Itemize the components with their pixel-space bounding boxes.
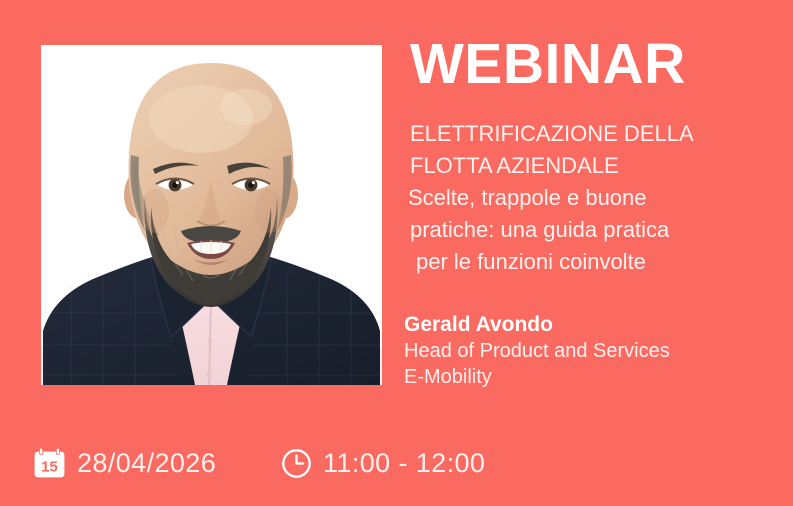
headline-line-2: FLOTTA AZIENDALE: [404, 150, 793, 182]
page-title: WEBINAR: [410, 36, 686, 93]
headline-line-1: ELETTRIFICAZIONE DELLA: [404, 118, 793, 150]
speaker-role-line-2: E-Mobility: [404, 364, 793, 390]
clock-icon: [281, 448, 312, 479]
poster-text-column: WEBINAR ELETTRIFICAZIONE DELLA FLOTTA AZ…: [404, 0, 793, 506]
event-date-text: 28/04/2026: [77, 448, 216, 479]
speaker-info: Gerald Avondo Head of Product and Servic…: [404, 311, 793, 390]
headline-block: ELETTRIFICAZIONE DELLA FLOTTA AZIENDALE …: [404, 118, 793, 278]
headline-line-5: per le funzioni coinvolte: [404, 246, 793, 278]
event-meta-row: 15 28/04/2026 11:00 - 12:00: [0, 438, 793, 488]
speaker-portrait-image: [41, 45, 382, 385]
speaker-photo: [41, 45, 382, 385]
webinar-poster: WEBINAR ELETTRIFICAZIONE DELLA FLOTTA AZ…: [0, 0, 793, 506]
event-time: 11:00 - 12:00: [281, 438, 485, 488]
speaker-name: Gerald Avondo: [404, 311, 793, 338]
headline-line-3: Scelte, trappole e buone: [404, 182, 793, 214]
event-date: 15 28/04/2026: [34, 438, 216, 488]
calendar-icon-day: 15: [41, 459, 58, 476]
headline-line-4: pratiche: una guida pratica: [404, 214, 793, 246]
speaker-role-line-1: Head of Product and Services: [404, 338, 793, 364]
calendar-icon: 15: [34, 447, 65, 479]
event-time-text: 11:00 - 12:00: [323, 448, 485, 479]
